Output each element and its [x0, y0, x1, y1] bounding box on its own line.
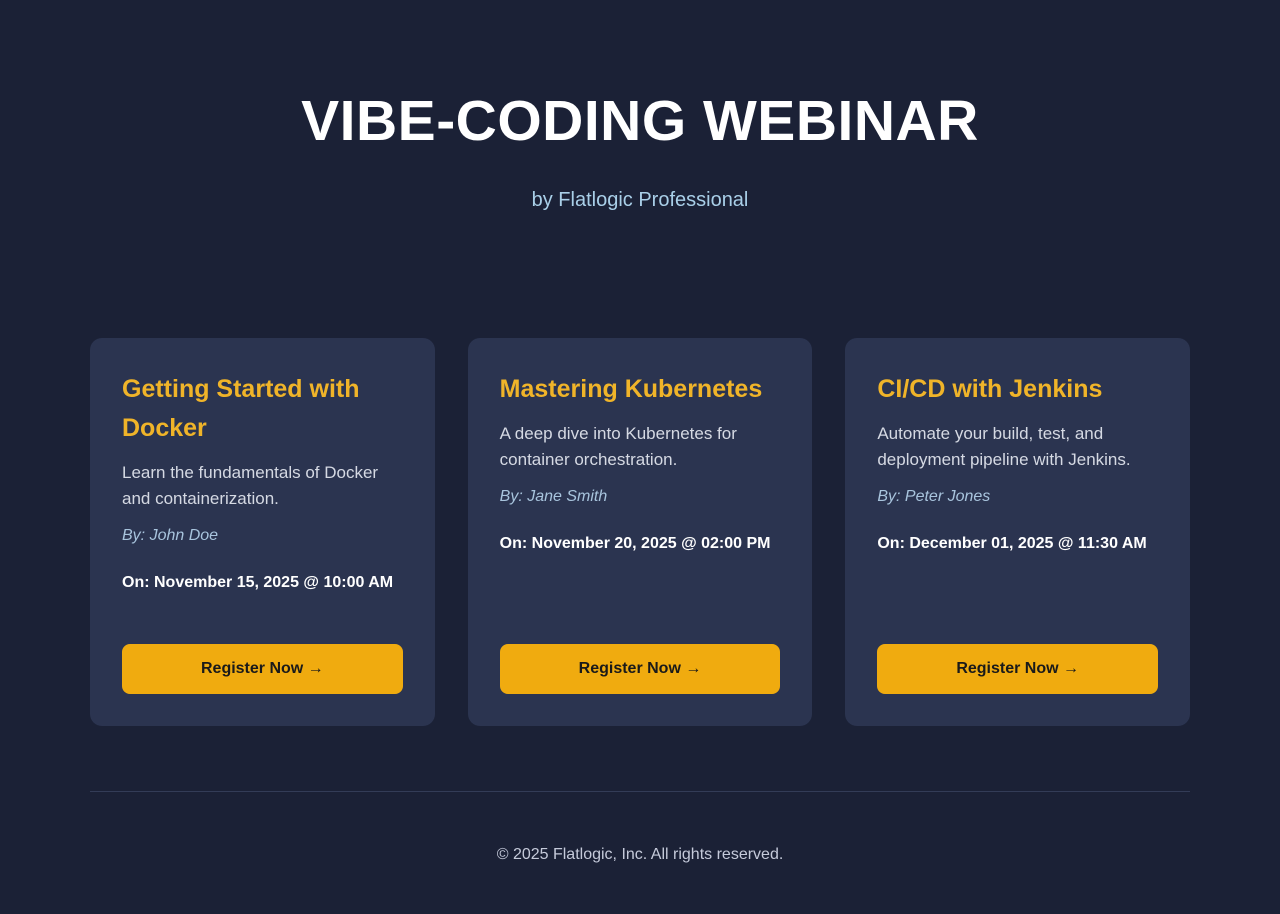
- webinar-landing-page: VIBE-CODING WEBINAR by Flatlogic Profess…: [0, 0, 1280, 914]
- webinar-card: CI/CD with Jenkins Automate your build, …: [845, 338, 1190, 726]
- card-spacer: [122, 596, 403, 644]
- page-title: VIBE-CODING WEBINAR: [0, 92, 1280, 152]
- webinar-title: Getting Started with Docker: [122, 370, 403, 448]
- register-now-button[interactable]: Register Now →: [500, 644, 781, 694]
- webinar-date: On: November 20, 2025 @ 02:00 PM: [500, 531, 781, 557]
- webinar-title: CI/CD with Jenkins: [877, 370, 1158, 409]
- page-header: VIBE-CODING WEBINAR by Flatlogic Profess…: [0, 0, 1280, 212]
- webinar-author: By: Peter Jones: [877, 485, 1158, 509]
- webinar-description: Automate your build, test, and deploymen…: [877, 421, 1158, 473]
- card-spacer: [877, 557, 1158, 644]
- webinar-author: By: John Doe: [122, 524, 403, 548]
- webinar-card: Getting Started with Docker Learn the fu…: [90, 338, 435, 726]
- footer-copyright: © 2025 Flatlogic, Inc. All rights reserv…: [90, 844, 1190, 866]
- page-subtitle: by Flatlogic Professional: [0, 188, 1280, 212]
- page-footer: © 2025 Flatlogic, Inc. All rights reserv…: [90, 791, 1190, 866]
- webinar-date: On: December 01, 2025 @ 11:30 AM: [877, 531, 1158, 557]
- webinar-title: Mastering Kubernetes: [500, 370, 781, 409]
- webinar-card-list: Getting Started with Docker Learn the fu…: [90, 338, 1190, 726]
- webinar-description: Learn the fundamentals of Docker and con…: [122, 460, 403, 512]
- webinar-author: By: Jane Smith: [500, 485, 781, 509]
- webinar-card: Mastering Kubernetes A deep dive into Ku…: [468, 338, 813, 726]
- webinar-date: On: November 15, 2025 @ 10:00 AM: [122, 570, 403, 596]
- footer-divider: [90, 791, 1190, 792]
- register-now-button[interactable]: Register Now →: [122, 644, 403, 694]
- webinar-description: A deep dive into Kubernetes for containe…: [500, 421, 781, 473]
- register-now-button[interactable]: Register Now →: [877, 644, 1158, 694]
- card-spacer: [500, 557, 781, 644]
